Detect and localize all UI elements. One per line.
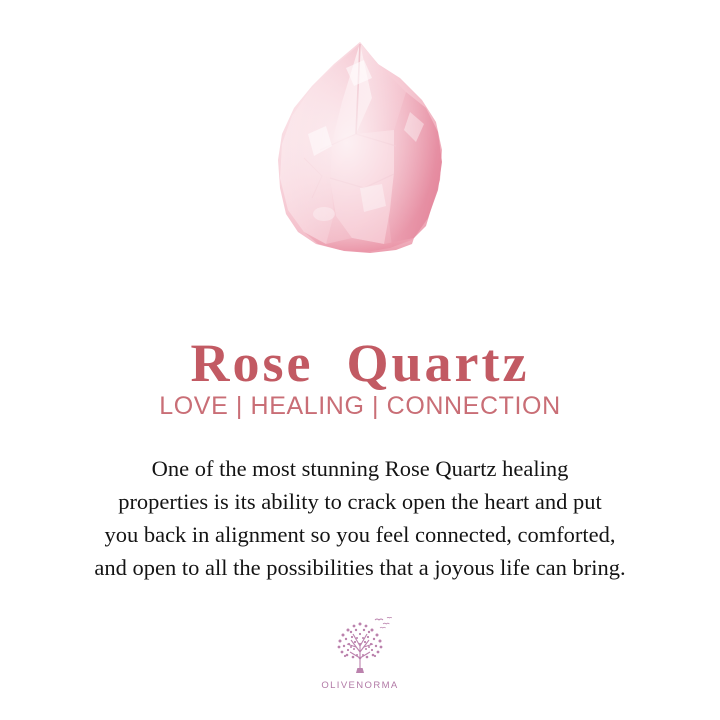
tree-branches xyxy=(347,634,373,668)
rose-quartz-crystal-image xyxy=(260,38,460,270)
crystal-inner-glow xyxy=(278,42,442,252)
brand-wordmark: OLIVENORMA xyxy=(0,680,720,691)
rose-quartz-info-card: Rose Quartz LOVE | HEALING | CONNECTION … xyxy=(0,0,720,720)
description-line: and open to all the possibilities that a… xyxy=(24,551,696,584)
description-line: properties is its ability to crack open … xyxy=(24,485,696,518)
hero-image-container xyxy=(0,0,720,285)
brand-logo: OLIVENORMA xyxy=(0,612,720,691)
olivenorma-tree-icon xyxy=(323,612,397,678)
birds-icon xyxy=(375,617,392,628)
page-title: Rose Quartz xyxy=(0,336,720,390)
description-line: One of the most stunning Rose Quartz hea… xyxy=(24,452,696,485)
description-paragraph: One of the most stunning Rose Quartz hea… xyxy=(24,452,696,584)
description-line: you back in alignment so you feel connec… xyxy=(24,518,696,551)
tree-trunk xyxy=(356,668,364,673)
keyword-subtitle: LOVE | HEALING | CONNECTION xyxy=(0,393,720,421)
